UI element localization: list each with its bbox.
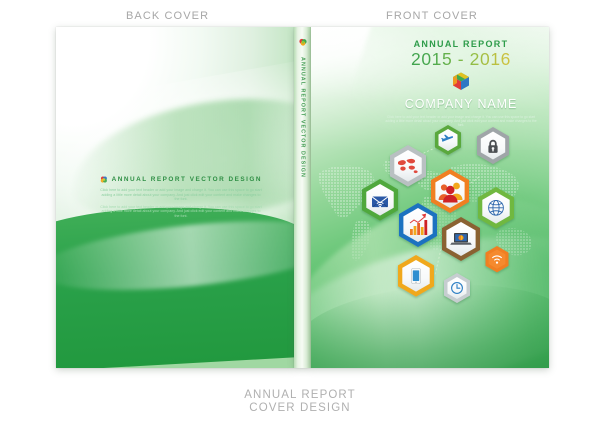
book-spine[interactable]: ANNUAL REPORT VECTOR DESIGN — [294, 27, 311, 368]
front-cover-page[interactable]: ANNUAL REPORT 2015 - 2016 COMPANY NAME C… — [311, 27, 549, 368]
circle-logo-icon — [298, 38, 307, 47]
back-cover-paragraph-1: Click here to add your text header or ad… — [100, 188, 262, 202]
back-cover-caption: BACK COVER — [126, 10, 209, 22]
hexagon-people[interactable] — [431, 169, 469, 213]
hexagon-world-map[interactable] — [390, 145, 426, 187]
poster-canvas: BACK COVER FRONT COVER ANNUAL REPORT VEC… — [0, 0, 600, 424]
bottom-caption-line-2: COVER DESIGN — [0, 402, 600, 415]
flower-cube-logo-icon — [100, 174, 108, 185]
hexagon-phone[interactable] — [398, 255, 434, 297]
bottom-caption-line-1: ANNUAL REPORT — [0, 389, 600, 402]
back-cover-title: ANNUAL REPORT VECTOR DESIGN — [112, 176, 262, 183]
back-cover-text-block: ANNUAL REPORT VECTOR DESIGN Click here t… — [100, 174, 262, 222]
smartphone-icon — [412, 269, 421, 284]
hexagon-mail[interactable] — [362, 179, 398, 221]
hexagon-chart[interactable] — [399, 203, 437, 247]
front-cover-caption: FRONT COVER — [386, 10, 478, 22]
mail-wifi-icon — [372, 197, 388, 208]
hexagon-lock[interactable] — [477, 127, 509, 164]
spine-title: ANNUAL REPORT VECTOR DESIGN — [300, 57, 306, 178]
bottom-caption: ANNUAL REPORT COVER DESIGN — [0, 389, 600, 415]
wifi-dot-icon — [496, 262, 498, 264]
back-cover-page[interactable]: ANNUAL REPORT VECTOR DESIGN Click here t… — [56, 27, 294, 368]
hexagon-icon-cluster[interactable] — [311, 27, 549, 368]
hexagon-clock[interactable] — [444, 273, 470, 303]
hexagon-wifi[interactable] — [486, 246, 509, 272]
hexagon-globe[interactable] — [478, 187, 514, 229]
back-cover-heading-row: ANNUAL REPORT VECTOR DESIGN — [100, 174, 262, 185]
hexagon-laptop[interactable] — [442, 217, 480, 261]
hexagon-airplane[interactable] — [435, 125, 461, 155]
back-cover-paragraph-2: Click here to add your text header or ad… — [100, 205, 262, 219]
